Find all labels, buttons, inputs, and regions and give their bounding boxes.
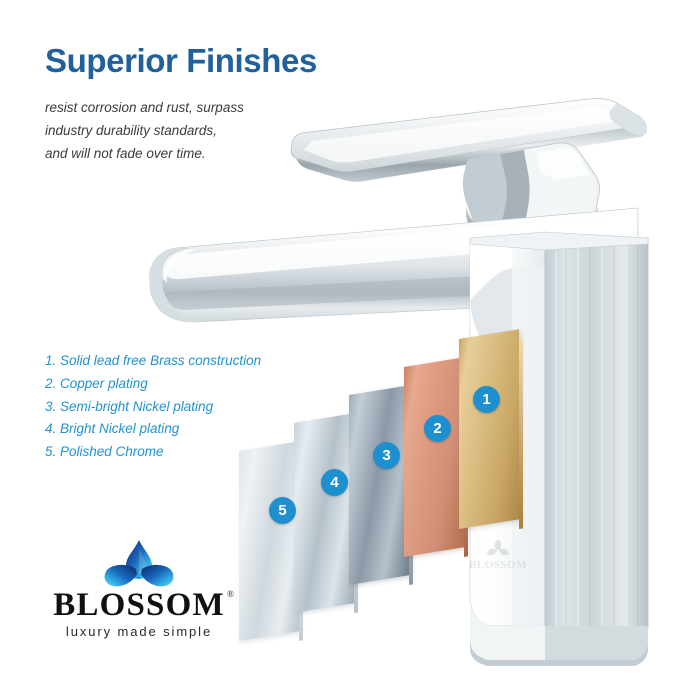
badge-2[interactable]: 2: [424, 415, 451, 442]
subtitle-line-1: resist corrosion and rust, surpass: [45, 96, 345, 119]
plate-3-face: [349, 385, 409, 585]
subtitle-line-2: industry durability standards,: [45, 119, 345, 142]
plate-1-face: [459, 329, 519, 529]
brand-logo: BLOSSOM ® luxury made simple: [44, 536, 234, 638]
plate-2-face: [404, 357, 464, 557]
logo-tagline: luxury made simple: [44, 625, 234, 638]
finish-list-item-3: 3. Semi-bright Nickel plating: [45, 396, 345, 419]
plate-1-brass: [459, 339, 519, 529]
plate-2-copper: [404, 367, 464, 557]
finish-list-item-1: 1. Solid lead free Brass construction: [45, 350, 345, 373]
finish-list-item-2: 2. Copper plating: [45, 373, 345, 396]
infographic-canvas: BLOSSOM 1: [0, 0, 700, 700]
plate-3-semi-bright-nickel: [349, 395, 409, 585]
badge-1[interactable]: 1: [473, 386, 500, 413]
finish-layer-list: 1. Solid lead free Brass construction 2.…: [45, 350, 345, 464]
logo-wordmark: BLOSSOM ®: [53, 589, 225, 622]
finish-list-item-5: 5. Polished Chrome: [45, 441, 345, 464]
registered-trademark-icon: ®: [227, 590, 234, 599]
badge-4[interactable]: 4: [321, 469, 348, 496]
plate-1-edge: [519, 338, 523, 529]
blossom-mark-svg: [44, 536, 234, 588]
finish-list-item-4: 4. Bright Nickel plating: [45, 418, 345, 441]
blossom-flower-icon: [44, 536, 234, 588]
badge-5[interactable]: 5: [269, 497, 296, 524]
subtitle-line-3: and will not fade over time.: [45, 142, 345, 165]
page-title: Superior Finishes: [45, 44, 465, 79]
plate-5-polished-chrome: [239, 451, 299, 641]
badge-3[interactable]: 3: [373, 442, 400, 469]
subtitle-text: resist corrosion and rust, surpass indus…: [45, 96, 345, 166]
plate-5-face: [239, 441, 299, 641]
logo-wordmark-text: BLOSSOM: [53, 587, 225, 623]
